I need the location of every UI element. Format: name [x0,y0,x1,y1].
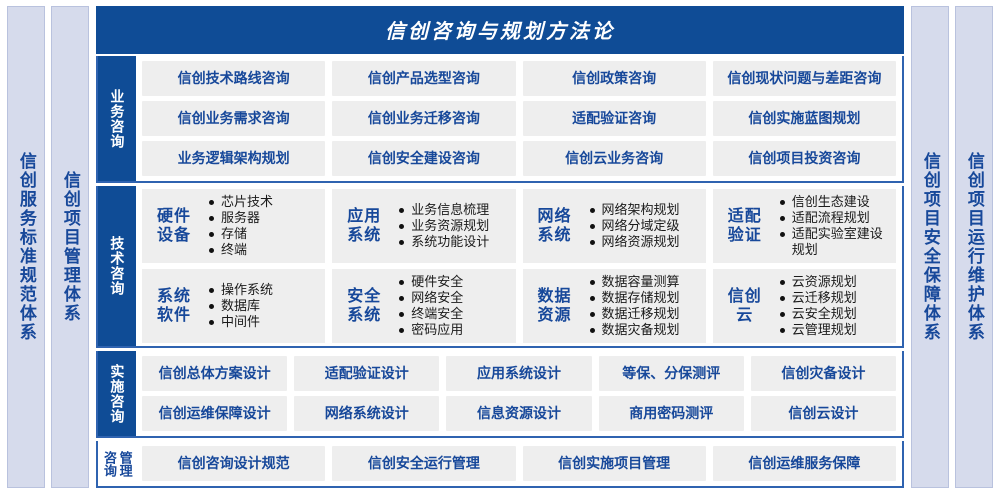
tech-cell-title: 数据 资源 [527,287,583,325]
band-label-business: 业务咨询 [98,56,136,181]
list-item: 密码应用 [398,322,509,338]
chip-item[interactable]: 信创运维服务保障 [713,446,896,481]
chip-item[interactable]: 信创安全建设咨询 [332,141,515,176]
tech-cell-adaptation[interactable]: 适配 验证 信创生态建设 适配流程规划 适配实验室建设规划 [713,189,896,263]
chip-row: 业务逻辑架构规划 信创安全建设咨询 信创云业务咨询 信创项目投资咨询 [142,141,896,176]
page-title: 信创咨询与规划方法论 [96,6,904,54]
list-item: 服务器 [208,210,319,226]
tech-cell-list: 芯片技术 服务器 存储 终端 [208,194,319,258]
tech-cell-title: 系统 软件 [146,287,202,325]
tech-cell-title: 信创 云 [717,287,773,325]
chip-item[interactable]: 适配验证咨询 [523,101,706,136]
tech-cell-title: 适配 验证 [717,207,773,245]
chip-item[interactable]: 信创项目投资咨询 [713,141,896,176]
tech-cell-title: 安全 系统 [336,287,392,325]
list-item: 网络分域定级 [589,218,700,234]
chip-item[interactable]: 信创技术路线咨询 [142,61,325,96]
chip-item[interactable]: 信创云业务咨询 [523,141,706,176]
list-item: 操作系统 [208,282,319,298]
list-item: 适配实验室建设规划 [779,226,890,258]
list-item: 云管理规划 [779,322,890,338]
list-item: 存储 [208,226,319,242]
band-label-text: 管理 [118,451,132,477]
tech-cell-list: 硬件安全 网络安全 终端安全 密码应用 [398,274,509,338]
pillar-label: 信创服务标准规范体系 [17,152,35,342]
chip-item[interactable]: 信创总体方案设计 [142,356,287,391]
list-item: 数据迁移规划 [589,306,700,322]
list-item: 信创生态建设 [779,194,890,210]
list-item: 中间件 [208,314,319,330]
chip-item[interactable]: 信创云设计 [751,396,896,431]
list-item: 终端 [208,242,319,258]
list-item: 适配流程规划 [779,210,890,226]
list-item: 网络资源规划 [589,234,700,250]
band-implementation-consulting: 实施咨询 信创总体方案设计 适配验证设计 应用系统设计 等保、分保测评 信创灾备… [96,351,904,438]
band-label-columns: 咨询 管理 [102,451,131,477]
diagram-root: 信创服务标准规范体系 信创项目管理体系 信创咨询与规划方法论 业务咨询 信创技术… [0,0,1000,496]
tech-cell-data-resource[interactable]: 数据 资源 数据容量测算 数据存储规划 数据迁移规划 数据灾备规划 [523,269,706,343]
chip-item[interactable]: 应用系统设计 [446,356,591,391]
chip-item[interactable]: 网络系统设计 [294,396,439,431]
pillar-service-standard-system: 信创服务标准规范体系 [7,6,45,488]
tech-cell-title: 应用 系统 [336,207,392,245]
band-body-technical: 硬件 设备 芯片技术 服务器 存储 终端 应用 系统 [136,186,902,346]
chip-item[interactable]: 信创政策咨询 [523,61,706,96]
chip-item[interactable]: 信创灾备设计 [751,356,896,391]
pillar-label: 信创项目管理体系 [61,171,79,323]
list-item: 数据存储规划 [589,290,700,306]
band-technical-consulting: 技术咨询 硬件 设备 芯片技术 服务器 存储 终端 [96,186,904,348]
chip-item[interactable]: 信创现状问题与差距咨询 [713,61,896,96]
band-label-text: 业务咨询 [110,89,125,149]
list-item: 数据库 [208,298,319,314]
chip-item[interactable]: 信创实施项目管理 [523,446,706,481]
list-item: 数据灾备规划 [589,322,700,338]
pillar-label: 信创项目安全保障体系 [921,152,939,342]
list-item: 业务信息梳理 [398,202,509,218]
band-label-technical: 技术咨询 [98,186,136,346]
tech-cell-hardware[interactable]: 硬件 设备 芯片技术 服务器 存储 终端 [142,189,325,263]
tech-cell-network[interactable]: 网络 系统 网络架构规划 网络分域定级 网络资源规划 [523,189,706,263]
pillar-project-management-system: 信创项目管理体系 [51,6,89,488]
tech-cell-list: 信创生态建设 适配流程规划 适配实验室建设规划 [779,194,890,258]
list-item: 业务资源规划 [398,218,509,234]
pillar-project-operation-system: 信创项目运行维护体系 [955,6,993,488]
list-item: 网络安全 [398,290,509,306]
band-business-consulting: 业务咨询 信创技术路线咨询 信创产品选型咨询 信创政策咨询 信创现状问题与差距咨… [96,56,904,183]
tech-cell-system-software[interactable]: 系统 软件 操作系统 数据库 中间件 [142,269,325,343]
chip-item[interactable]: 信创业务迁移咨询 [332,101,515,136]
tech-cell-title: 硬件 设备 [146,207,202,245]
core-column: 信创咨询与规划方法论 业务咨询 信创技术路线咨询 信创产品选型咨询 信创政策咨询… [96,6,904,488]
band-body-business: 信创技术路线咨询 信创产品选型咨询 信创政策咨询 信创现状问题与差距咨询 信创业… [136,56,902,181]
band-body-implementation: 信创总体方案设计 适配验证设计 应用系统设计 等保、分保测评 信创灾备设计 信创… [136,351,902,436]
tech-row: 硬件 设备 芯片技术 服务器 存储 终端 应用 系统 [142,189,896,263]
list-item: 硬件安全 [398,274,509,290]
chip-row: 信创咨询设计规范 信创安全运行管理 信创实施项目管理 信创运维服务保障 [142,446,896,481]
chip-item[interactable]: 商用密码测评 [599,396,744,431]
chip-item[interactable]: 信创业务需求咨询 [142,101,325,136]
chip-row: 信创业务需求咨询 信创业务迁移咨询 适配验证咨询 信创实施蓝图规划 [142,101,896,136]
chip-item[interactable]: 等保、分保测评 [599,356,744,391]
list-item: 云资源规划 [779,274,890,290]
tech-cell-security[interactable]: 安全 系统 硬件安全 网络安全 终端安全 密码应用 [332,269,515,343]
tech-cell-list: 网络架构规划 网络分域定级 网络资源规划 [589,202,700,250]
band-consulting-management: 咨询 管理 信创咨询设计规范 信创安全运行管理 信创实施项目管理 信创运维服务保… [96,441,904,488]
band-label-management: 咨询 管理 [98,441,136,486]
tech-cell-list: 操作系统 数据库 中间件 [208,282,319,330]
pillar-label: 信创项目运行维护体系 [965,152,983,342]
list-item: 云迁移规划 [779,290,890,306]
chip-item[interactable]: 适配验证设计 [294,356,439,391]
tech-row: 系统 软件 操作系统 数据库 中间件 安全 系统 [142,269,896,343]
tech-cell-list: 业务信息梳理 业务资源规划 系统功能设计 [398,202,509,250]
band-label-implementation: 实施咨询 [98,351,136,436]
chip-item[interactable]: 信创产品选型咨询 [332,61,515,96]
list-item: 系统功能设计 [398,234,509,250]
chip-row: 信创技术路线咨询 信创产品选型咨询 信创政策咨询 信创现状问题与差距咨询 [142,61,896,96]
band-label-text: 咨询 [102,451,116,477]
tech-cell-title: 网络 系统 [527,207,583,245]
chip-item[interactable]: 信息资源设计 [446,396,591,431]
tech-cell-list: 数据容量测算 数据存储规划 数据迁移规划 数据灾备规划 [589,274,700,338]
band-body-management: 信创咨询设计规范 信创安全运行管理 信创实施项目管理 信创运维服务保障 [136,441,902,486]
band-label-text: 实施咨询 [110,364,125,424]
chip-row: 信创运维保障设计 网络系统设计 信息资源设计 商用密码测评 信创云设计 [142,396,896,431]
pillar-project-security-system: 信创项目安全保障体系 [911,6,949,488]
tech-cell-cloud[interactable]: 信创 云 云资源规划 云迁移规划 云安全规划 云管理规划 [713,269,896,343]
chip-item[interactable]: 业务逻辑架构规划 [142,141,325,176]
tech-cell-application[interactable]: 应用 系统 业务信息梳理 业务资源规划 系统功能设计 [332,189,515,263]
chip-item[interactable]: 信创运维保障设计 [142,396,287,431]
list-item: 芯片技术 [208,194,319,210]
chip-row: 信创总体方案设计 适配验证设计 应用系统设计 等保、分保测评 信创灾备设计 [142,356,896,391]
list-item: 数据容量测算 [589,274,700,290]
list-item: 终端安全 [398,306,509,322]
chip-item[interactable]: 信创实施蓝图规划 [713,101,896,136]
tech-cell-list: 云资源规划 云迁移规划 云安全规划 云管理规划 [779,274,890,338]
list-item: 云安全规划 [779,306,890,322]
chip-item[interactable]: 信创安全运行管理 [332,446,515,481]
band-label-text: 技术咨询 [110,236,125,296]
chip-item[interactable]: 信创咨询设计规范 [142,446,325,481]
list-item: 网络架构规划 [589,202,700,218]
